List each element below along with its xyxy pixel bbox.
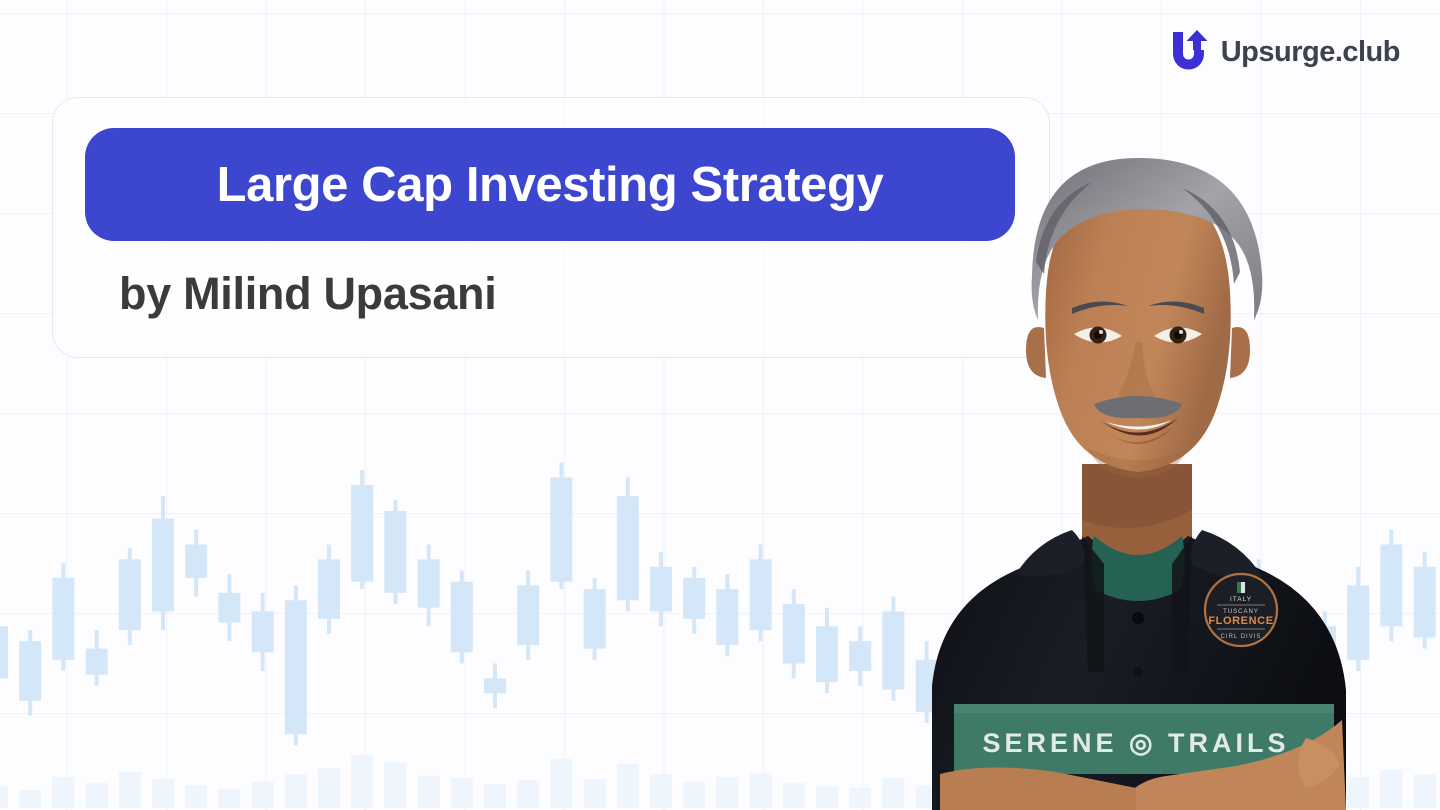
florence-badge: ITALY TUSCANY FLORENCE CIRL DIVIS bbox=[1205, 574, 1277, 646]
candle-wick bbox=[427, 544, 431, 626]
volume-bar bbox=[783, 783, 805, 808]
candle-wick bbox=[393, 500, 397, 604]
candle-body bbox=[484, 678, 506, 693]
candle-body bbox=[252, 611, 274, 652]
candle-body bbox=[218, 593, 240, 623]
candle-wick bbox=[360, 470, 364, 589]
volume-bar bbox=[750, 773, 772, 808]
shirt-band-text: SERENE ◎ TRAILS bbox=[982, 728, 1289, 758]
volume-bar bbox=[816, 786, 838, 808]
candle-body bbox=[617, 496, 639, 600]
volume-bar bbox=[218, 789, 240, 808]
svg-text:ITALY: ITALY bbox=[1230, 596, 1252, 603]
candle-body bbox=[816, 626, 838, 682]
upsurge-u-arrow-logo-icon bbox=[1168, 28, 1210, 76]
volume-bar bbox=[650, 774, 672, 808]
volume-bar bbox=[152, 779, 174, 808]
candle-wick bbox=[161, 496, 165, 630]
candle-body bbox=[52, 578, 74, 660]
candle-body bbox=[550, 478, 572, 582]
candle-body bbox=[517, 585, 539, 645]
candle-wick bbox=[294, 585, 298, 745]
volume-bar bbox=[0, 786, 8, 808]
volume-bar bbox=[19, 790, 41, 808]
candle-body bbox=[418, 559, 440, 607]
candle-body bbox=[318, 559, 340, 619]
headline-text: Large Cap Investing Strategy bbox=[217, 157, 884, 213]
candle-body bbox=[285, 600, 307, 734]
volume-bar bbox=[185, 785, 207, 808]
candle-body bbox=[119, 559, 141, 630]
candle-body bbox=[384, 511, 406, 593]
candle-wick bbox=[61, 563, 65, 671]
candle-wick bbox=[261, 593, 265, 671]
candle-wick bbox=[327, 544, 331, 633]
svg-text:FLORENCE: FLORENCE bbox=[1208, 615, 1273, 627]
candle-wick bbox=[792, 589, 796, 678]
candle-wick bbox=[526, 571, 530, 660]
brand-name: Upsurge.club bbox=[1221, 36, 1400, 69]
volume-bar bbox=[418, 776, 440, 808]
candle-body bbox=[783, 604, 805, 664]
candle-body bbox=[750, 559, 772, 630]
candle-body bbox=[0, 626, 8, 678]
candle-wick bbox=[659, 552, 663, 626]
candle-wick bbox=[825, 608, 829, 694]
volume-bar bbox=[252, 782, 274, 808]
candle-body bbox=[86, 649, 108, 675]
candle-body bbox=[683, 578, 705, 619]
volume-bar bbox=[119, 772, 141, 808]
candle-wick bbox=[128, 548, 132, 645]
candle-wick bbox=[626, 478, 630, 612]
promo-banner: Upsurge.club Large Cap Investing Strateg… bbox=[0, 0, 1440, 810]
candle-body bbox=[185, 544, 207, 577]
brand-logo[interactable]: Upsurge.club bbox=[1168, 28, 1400, 76]
candle-body bbox=[716, 589, 738, 645]
candle-wick bbox=[559, 463, 563, 589]
candle-body bbox=[19, 641, 41, 701]
volume-bar bbox=[484, 784, 506, 808]
ear-right bbox=[1230, 327, 1250, 378]
candle-body bbox=[451, 582, 473, 653]
volume-bar bbox=[86, 783, 108, 808]
volume-bar bbox=[52, 777, 74, 808]
volume-bar bbox=[285, 774, 307, 808]
candle-wick bbox=[692, 567, 696, 634]
polo-button bbox=[1132, 612, 1144, 624]
volume-bar bbox=[683, 782, 705, 808]
candle-wick bbox=[725, 574, 729, 656]
candle-wick bbox=[759, 544, 763, 641]
volume-bar bbox=[584, 779, 606, 808]
volume-bar bbox=[384, 762, 406, 808]
candle-wick bbox=[194, 530, 198, 597]
candle-body bbox=[351, 485, 373, 582]
candle-wick bbox=[95, 630, 99, 686]
candle-wick bbox=[593, 578, 597, 660]
candle-body bbox=[152, 518, 174, 611]
candle-body bbox=[650, 567, 672, 612]
volume-bar bbox=[517, 780, 539, 808]
byline-text: by Milind Upasani bbox=[119, 268, 496, 320]
volume-bar bbox=[318, 768, 340, 808]
volume-bar bbox=[550, 759, 572, 808]
volume-bar bbox=[716, 777, 738, 808]
ear-left bbox=[1026, 327, 1046, 378]
volume-bar bbox=[451, 778, 473, 808]
volume-bar bbox=[351, 755, 373, 808]
volume-bar bbox=[617, 764, 639, 808]
candle-wick bbox=[28, 630, 32, 716]
candle-wick bbox=[227, 574, 231, 641]
candle-wick bbox=[460, 571, 464, 664]
candle-body bbox=[584, 589, 606, 649]
svg-text:CIRL DIVIS: CIRL DIVIS bbox=[1221, 634, 1262, 640]
candle-wick bbox=[493, 664, 497, 709]
presenter-portrait: SERENE ◎ TRAILS ITALY TUSCANY FLORENCE bbox=[836, 112, 1440, 810]
